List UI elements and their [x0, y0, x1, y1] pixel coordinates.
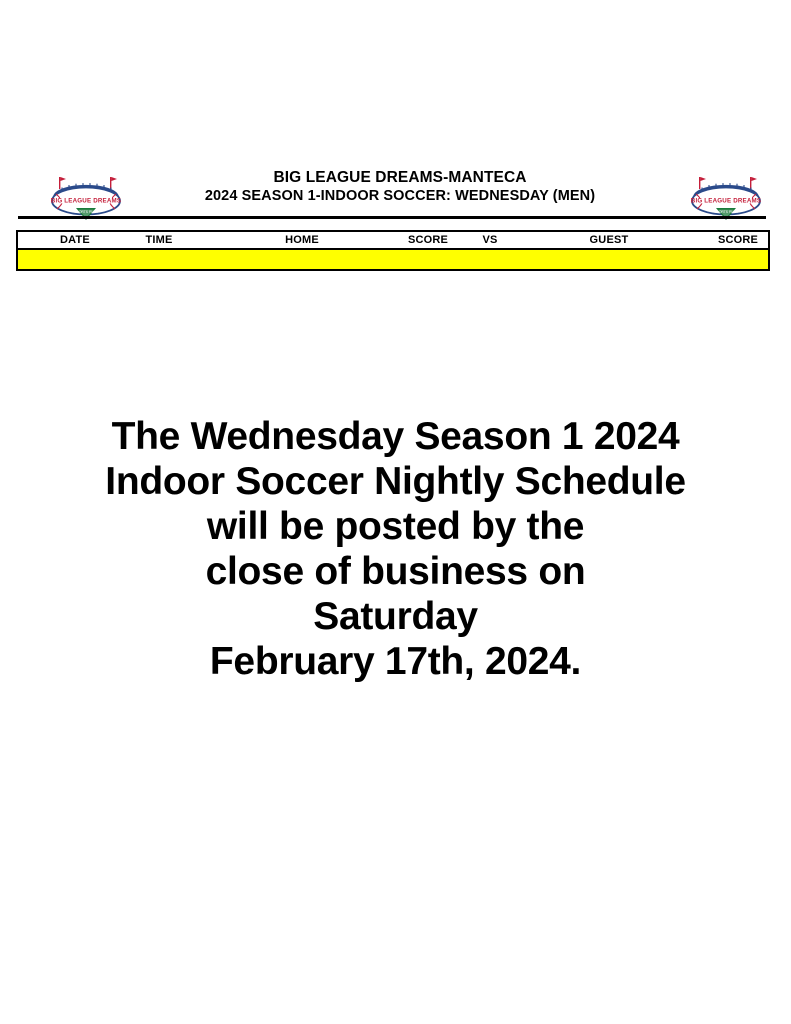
column-header-home: HOME: [262, 232, 342, 248]
big-league-dreams-logo: BIG LEAGUE DREAMS SPORTS PARK: [678, 170, 774, 222]
notice-line: will be posted by the: [0, 504, 791, 549]
column-header-home-score: SCORE: [398, 232, 458, 248]
svg-text:SPORTS PARK: SPORTS PARK: [714, 210, 738, 214]
header-title-group: BIG LEAGUE DREAMS-MANTECA 2024 SEASON 1-…: [150, 168, 650, 206]
column-header-vs: VS: [470, 232, 510, 248]
schedule-table: DATE TIME HOME SCORE VS GUEST SCORE: [16, 230, 770, 271]
notice-line: Saturday: [0, 594, 791, 639]
svg-text:SPORTS PARK: SPORTS PARK: [74, 210, 98, 214]
column-header-date: DATE: [40, 232, 110, 248]
table-header-row: DATE TIME HOME SCORE VS GUEST SCORE: [18, 232, 768, 250]
column-header-guest-score: SCORE: [708, 232, 768, 248]
notice-line: close of business on: [0, 549, 791, 594]
column-header-time: TIME: [124, 232, 194, 248]
page-title: BIG LEAGUE DREAMS-MANTECA: [150, 168, 650, 187]
big-league-dreams-logo: BIG LEAGUE DREAMS SPORTS PARK: [38, 170, 134, 222]
column-header-guest: GUEST: [574, 232, 644, 248]
notice-line: The Wednesday Season 1 2024: [0, 414, 791, 459]
table-empty-highlight-row: [18, 250, 768, 269]
notice-line: Indoor Soccer Nightly Schedule: [0, 459, 791, 504]
page-header: BIG LEAGUE DREAMS SPORTS PARK BIG LEAGUE…: [0, 168, 791, 224]
svg-text:BIG LEAGUE DREAMS: BIG LEAGUE DREAMS: [691, 198, 761, 205]
notice-line: February 17th, 2024.: [0, 639, 791, 684]
header-divider: [18, 216, 766, 219]
notice-message: The Wednesday Season 1 2024 Indoor Socce…: [0, 414, 791, 684]
svg-text:BIG LEAGUE DREAMS: BIG LEAGUE DREAMS: [51, 198, 121, 205]
page-subtitle: 2024 SEASON 1-INDOOR SOCCER: WEDNESDAY (…: [150, 187, 650, 206]
